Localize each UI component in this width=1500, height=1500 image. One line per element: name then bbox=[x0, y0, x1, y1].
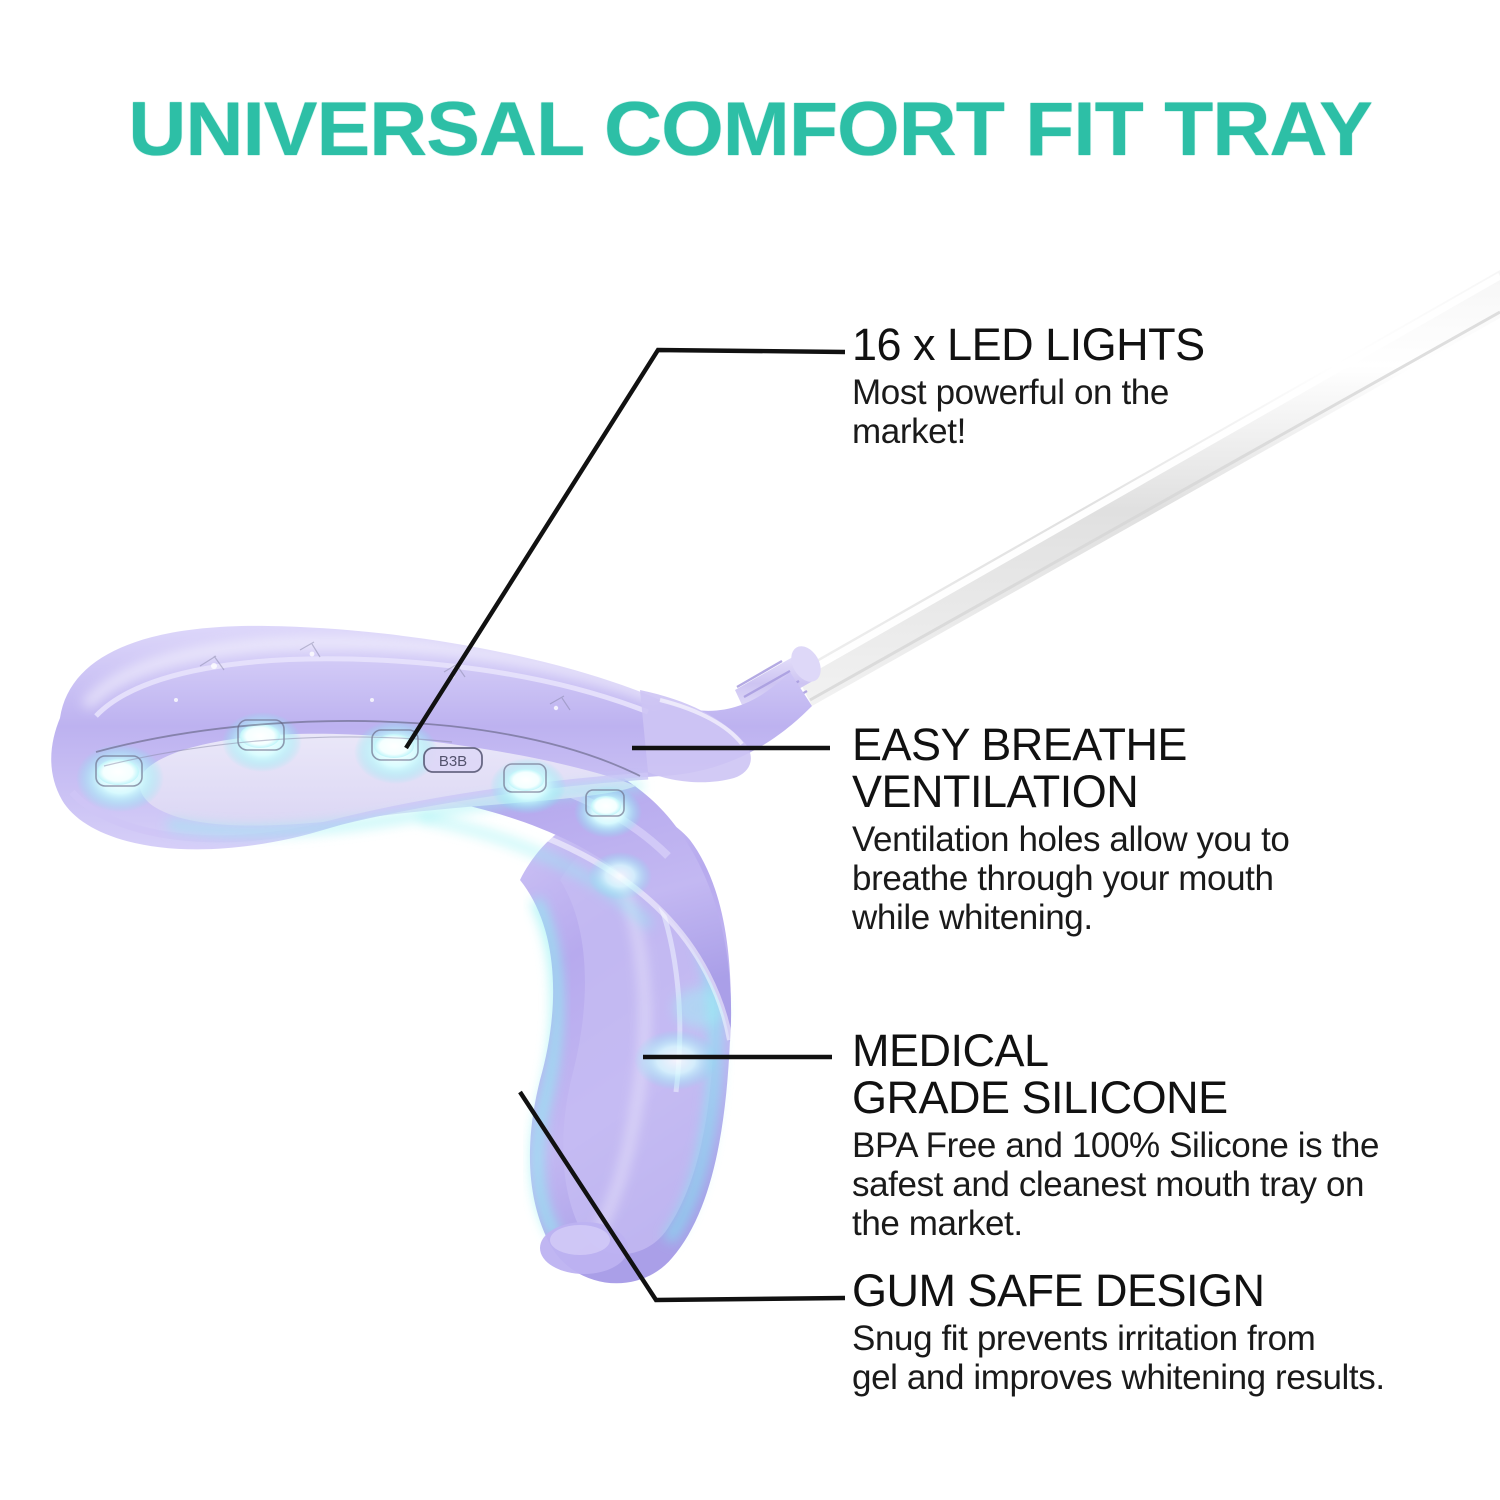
callout-led-lights-body: Most powerful on the market! bbox=[852, 373, 1322, 451]
callout-gum-safe-heading: GUM SAFE DESIGN bbox=[852, 1268, 1492, 1315]
callout-ventilation-heading: EASY BREATHE VENTILATION bbox=[852, 722, 1412, 816]
callout-silicone: MEDICAL GRADE SILICONE BPA Free and 100%… bbox=[852, 1028, 1462, 1243]
callout-led-lights-heading: 16 x LED LIGHTS bbox=[852, 322, 1322, 369]
infographic-canvas: UNIVERSAL COMFORT FIT TRAY bbox=[0, 0, 1500, 1500]
callout-gum-safe-body: Snug fit prevents irritation from gel an… bbox=[852, 1319, 1492, 1397]
callout-ventilation-body: Ventilation holes allow you to breathe t… bbox=[852, 820, 1412, 938]
callout-ventilation: EASY BREATHE VENTILATION Ventilation hol… bbox=[852, 722, 1412, 937]
tray-marking: B3B bbox=[424, 748, 482, 772]
callout-led-lights: 16 x LED LIGHTS Most powerful on the mar… bbox=[852, 322, 1322, 451]
svg-text:B3B: B3B bbox=[439, 753, 467, 770]
callout-silicone-heading: MEDICAL GRADE SILICONE bbox=[852, 1028, 1462, 1122]
callout-silicone-body: BPA Free and 100% Silicone is the safest… bbox=[852, 1126, 1462, 1244]
callout-gum-safe: GUM SAFE DESIGN Snug fit prevents irrita… bbox=[852, 1268, 1492, 1397]
